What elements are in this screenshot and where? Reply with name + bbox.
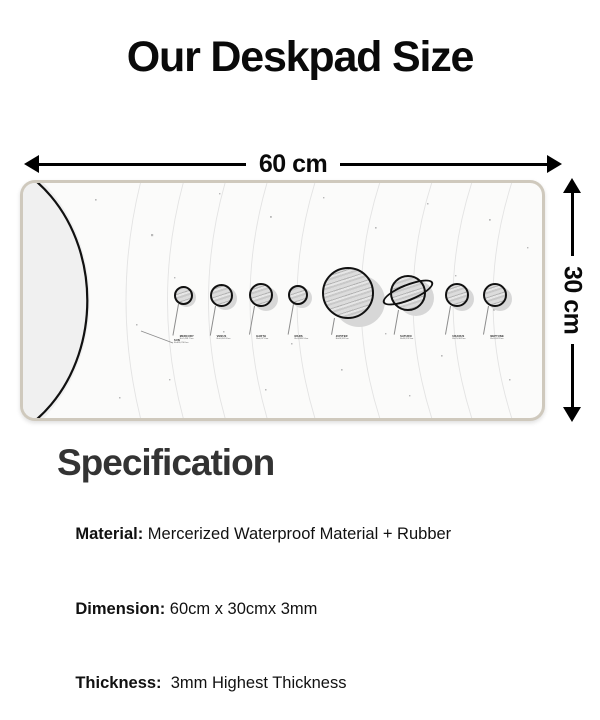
leader-line-venus: [210, 305, 216, 334]
spec-row-thickness: Thickness: 3mm Highest Thickness: [57, 646, 567, 720]
specification-block: Specification Material: Mercerized Water…: [57, 443, 567, 720]
leader-line-neptune: [483, 306, 489, 335]
planet-radius-saturn: R=58,232 km: [400, 338, 413, 341]
spec-value-material: Mercerized Waterproof Material + Rubber: [143, 525, 451, 543]
planet-label-jupiter: JUPITERR=69,911 km: [336, 335, 349, 341]
width-dimension-arrow: 60 cm: [24, 148, 562, 180]
leader-line-mars: [287, 304, 293, 335]
planet-radius-venus: R=6,051.8 km: [217, 338, 231, 341]
planet-radius-jupiter: R=69,911 km: [336, 338, 349, 341]
planet-radius-sun: R=695,700 km: [174, 342, 188, 345]
planet-neptune: [483, 283, 507, 307]
planet-venus: [210, 284, 233, 307]
planet-radius-uranus: R=25,362 km: [452, 338, 465, 341]
dimension-line-left: [39, 163, 246, 166]
planet-label-neptune: NEPTUNER=24,622 km: [490, 335, 503, 341]
spec-value-thickness: 3mm Highest Thickness: [162, 674, 347, 692]
arrow-left-icon: [24, 155, 39, 173]
dimension-line-bottom: [571, 344, 574, 407]
planet-label-venus: VENUSR=6,051.8 km: [217, 335, 231, 341]
planet-mars: [288, 285, 308, 305]
specification-heading: Specification: [57, 443, 567, 484]
leader-line-earth: [249, 306, 255, 335]
dimension-line-top: [571, 193, 574, 256]
planet-mercury: [174, 286, 193, 305]
page-title: Our Deskpad Size: [0, 36, 600, 79]
arrow-down-icon: [563, 407, 581, 422]
planet-radius-mercury: R=2,439.7 km: [180, 338, 194, 341]
leader-line-mercury: [172, 303, 178, 334]
planet-label-saturn: SATURNR=58,232 km: [400, 335, 413, 341]
planet-earth: [249, 283, 273, 307]
height-dimension-arrow: 30 cm: [556, 178, 588, 422]
leader-line-uranus: [445, 306, 451, 335]
planet-layer: MERCURYR=2,439.7 kmVENUSR=6,051.8 kmEART…: [23, 183, 542, 418]
planet-jupiter: [322, 267, 374, 319]
deskpad-product-image: SUN R=695,700 km MERCURYR=2,439.7 kmVENU…: [20, 180, 545, 421]
deskpad-surface: SUN R=695,700 km MERCURYR=2,439.7 kmVENU…: [23, 183, 542, 418]
height-dimension-label: 30 cm: [558, 256, 587, 344]
spec-key-dimension: Dimension:: [75, 600, 165, 618]
arrow-right-icon: [547, 155, 562, 173]
spec-row-dimension: Dimension: 60cm x 30cmx 3mm: [57, 572, 567, 646]
spec-key-thickness: Thickness:: [75, 674, 161, 692]
leader-line-saturn: [394, 310, 399, 335]
planet-label-earth: EARTHR=6,371 km: [256, 335, 268, 341]
planet-radius-mars: R=3,389.5 km: [295, 338, 309, 341]
title-block: Our Deskpad Size: [0, 36, 600, 79]
arrow-up-icon: [563, 178, 581, 193]
spec-row-material: Material: Mercerized Waterproof Material…: [57, 498, 567, 572]
spec-key-material: Material:: [75, 525, 143, 543]
planet-radius-neptune: R=24,622 km: [490, 338, 503, 341]
planet-uranus: [445, 283, 469, 307]
width-dimension-label: 60 cm: [246, 150, 340, 179]
spec-value-dimension: 60cm x 30cmx 3mm: [165, 600, 317, 618]
planet-label-uranus: URANUSR=25,362 km: [452, 335, 465, 341]
dimension-line-right: [340, 163, 547, 166]
planet-label-mercury: MERCURYR=2,439.7 km: [180, 335, 194, 341]
leader-line-jupiter: [331, 318, 335, 335]
planet-label-mars: MARSR=3,389.5 km: [295, 335, 309, 341]
planet-radius-earth: R=6,371 km: [256, 338, 268, 341]
